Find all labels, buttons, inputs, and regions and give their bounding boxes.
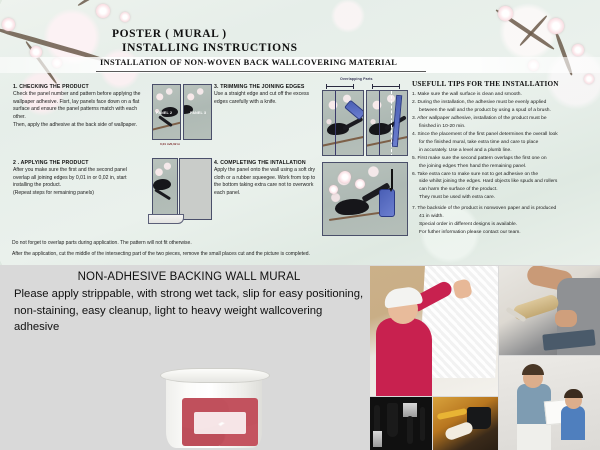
blossom-decoration xyxy=(96,4,110,18)
smoothing-blade-graphic xyxy=(373,431,382,447)
squeegee-graphic xyxy=(387,403,398,437)
blossom-decoration xyxy=(329,185,338,194)
step-3-body: Use a straight edge and cut off the exce… xyxy=(214,91,318,106)
branch-graphic xyxy=(366,135,408,147)
step-4-heading: 4. COMPLETING THE INTALLATION xyxy=(214,160,318,166)
tip-item: They must be used with extra care. xyxy=(412,194,590,201)
step-1-text: 1. CHECKING THE PRODUCT Check the panel … xyxy=(13,84,141,129)
tip-item: 3. After wallpaper adhesive, installatio… xyxy=(412,115,590,122)
step-2-heading: 2 . APPLYING THE PRODUCT xyxy=(13,160,141,166)
photo-man-and-child-hanging-mural xyxy=(499,356,600,450)
wallpaper-roll-graphic xyxy=(444,421,474,442)
tip-item: 2. During the installation, the adhesive… xyxy=(412,99,590,106)
promo-heading: NON-ADHESIVE BACKING WALL MURAL xyxy=(14,271,364,283)
tip-item: can harm the surface of the product. xyxy=(412,186,590,193)
step-2-peeling-sheet xyxy=(148,214,184,224)
tip-item: 6. Take extra care to make sure not to g… xyxy=(412,171,590,178)
alignment-line xyxy=(379,91,380,156)
tip-item: Special order in different designs is av… xyxy=(412,221,590,228)
adult-hair-graphic xyxy=(522,364,544,375)
tip-item: between the wall and the product by usin… xyxy=(412,107,590,114)
tip-item: finished in 10-20 min. xyxy=(412,123,590,130)
adult-legs-graphic xyxy=(517,422,551,450)
adhesive-bucket-image xyxy=(160,368,268,448)
title-line-2: INSTALLING INSTRUCTIONS xyxy=(112,42,442,54)
promo-text-block: NON-ADHESIVE BACKING WALL MURAL Please a… xyxy=(14,271,364,336)
step-3-right-image xyxy=(366,90,408,156)
tip-item: For futher information please contact ou… xyxy=(412,229,590,236)
note-line: Do not forget to overlap parts during ap… xyxy=(12,240,592,248)
bucket-label xyxy=(182,398,258,446)
note-line: After the application, cut the middle of… xyxy=(12,251,592,259)
blossom-decoration xyxy=(120,12,130,22)
tip-item: side whilst joining the edges. Hard obje… xyxy=(412,178,590,185)
title-line-1: POSTER ( MURAL ) xyxy=(112,28,442,40)
step-1-heading: 1. CHECKING THE PRODUCT xyxy=(13,84,141,90)
person-hand-graphic xyxy=(555,310,577,327)
tip-item: 41 in width. xyxy=(412,213,590,220)
overlapping-parts-label: Overlapping Parts xyxy=(340,77,373,81)
step-3-heading: 3. TRIMMING THE JOINING EDGES xyxy=(214,84,318,90)
step-1-panel-2-image: PANEL 2 xyxy=(152,84,181,140)
tip-item: 1. Make sure the wall surface is clean a… xyxy=(412,91,590,98)
step-2-panel-image xyxy=(152,158,178,220)
overlap-measure-left xyxy=(326,86,354,87)
tips-list: 1. Make sure the wall surface is clean a… xyxy=(412,91,590,236)
direction-arrow-icon xyxy=(391,169,393,189)
blossom-decoration xyxy=(498,6,513,21)
child-torso-graphic xyxy=(561,406,585,440)
alignment-line xyxy=(335,91,336,156)
panel-2-label: PANEL 2 xyxy=(156,111,172,115)
step-1-body: Check the panel number and pattern befor… xyxy=(13,91,141,129)
photo-tools-and-paste-bucket xyxy=(433,397,498,450)
promo-body: Please apply strippable, with strong wet… xyxy=(14,286,364,336)
step-3-text: 3. TRIMMING THE JOINING EDGES Use a stra… xyxy=(214,84,318,106)
squeegee-tool-icon xyxy=(379,189,395,217)
bird-tail-graphic xyxy=(154,188,171,200)
scraper-blade-graphic xyxy=(403,403,417,417)
blossom-decoration xyxy=(548,18,564,34)
tip-item: 7. The backside of the product is nonwov… xyxy=(412,205,590,212)
tip-item: the joining edges Then hand the remainin… xyxy=(412,163,590,170)
blossom-decoration xyxy=(572,44,584,56)
scraper-handle-graphic xyxy=(407,416,413,444)
step-3-left-image xyxy=(322,90,364,156)
step-4-body: Apply the panel onto the wall using a so… xyxy=(214,167,318,198)
step-4-text: 4. COMPLETING THE INTALLATION Apply the … xyxy=(214,160,318,198)
title-divider xyxy=(96,71,426,72)
photo-tool-set xyxy=(370,397,432,450)
tips-heading: USEFULL TIPS FOR THE INSTALLATION xyxy=(412,80,590,88)
step-2-text: 2 . APPLYING THE PRODUCT After you make … xyxy=(13,160,141,198)
branch-graphic xyxy=(322,135,364,147)
step-4-image xyxy=(322,162,408,236)
installation-tips: USEFULL TIPS FOR THE INSTALLATION 1. Mak… xyxy=(412,80,590,237)
step-2-blank-panel xyxy=(179,158,212,220)
panel-3-label: PANEL 3 xyxy=(190,111,206,115)
bucket-label-text-area xyxy=(194,412,246,434)
blossom-decoration xyxy=(2,18,15,31)
bucket-lid xyxy=(160,368,270,383)
wallpaper-instruction-sheet: POSTER ( MURAL ) INSTALLING INSTRUCTIONS… xyxy=(0,0,600,450)
document-title: POSTER ( MURAL ) INSTALLING INSTRUCTIONS xyxy=(112,28,442,54)
measure-caption-top: 0,01 in/0,02 in xyxy=(160,142,180,146)
brush-graphic xyxy=(420,407,425,441)
photo-woman-applying-wallpaper xyxy=(370,266,498,396)
overlap-measure-right xyxy=(372,86,400,87)
tip-item: 5. First make sure the second pattern ov… xyxy=(412,155,590,162)
photo-roller-applying-paste xyxy=(499,266,600,355)
footer-notes: Do not forget to overlap parts during ap… xyxy=(12,240,592,261)
child-hair-graphic xyxy=(564,389,583,398)
cutter-tool-icon xyxy=(344,100,364,121)
tip-item: 4. Since the placement of the first pane… xyxy=(412,131,590,138)
yellow-tool-graphic xyxy=(437,408,468,420)
person-torso-graphic xyxy=(376,318,432,396)
blossom-decoration xyxy=(339,171,351,183)
blossom-decoration xyxy=(355,179,365,189)
tip-item: in accurately. Use a level and a plumb l… xyxy=(412,147,590,154)
bucket-body xyxy=(166,376,262,448)
document-subtitle: INSTALLATION OF NON-WOVEN BACK WALLCOVER… xyxy=(100,58,397,67)
step-1-panel-3-image: PANEL 3 xyxy=(183,84,212,140)
step-2-body: After you make sure the first and the se… xyxy=(13,167,141,198)
tip-item: for the finished mural, take extra time … xyxy=(412,139,590,146)
